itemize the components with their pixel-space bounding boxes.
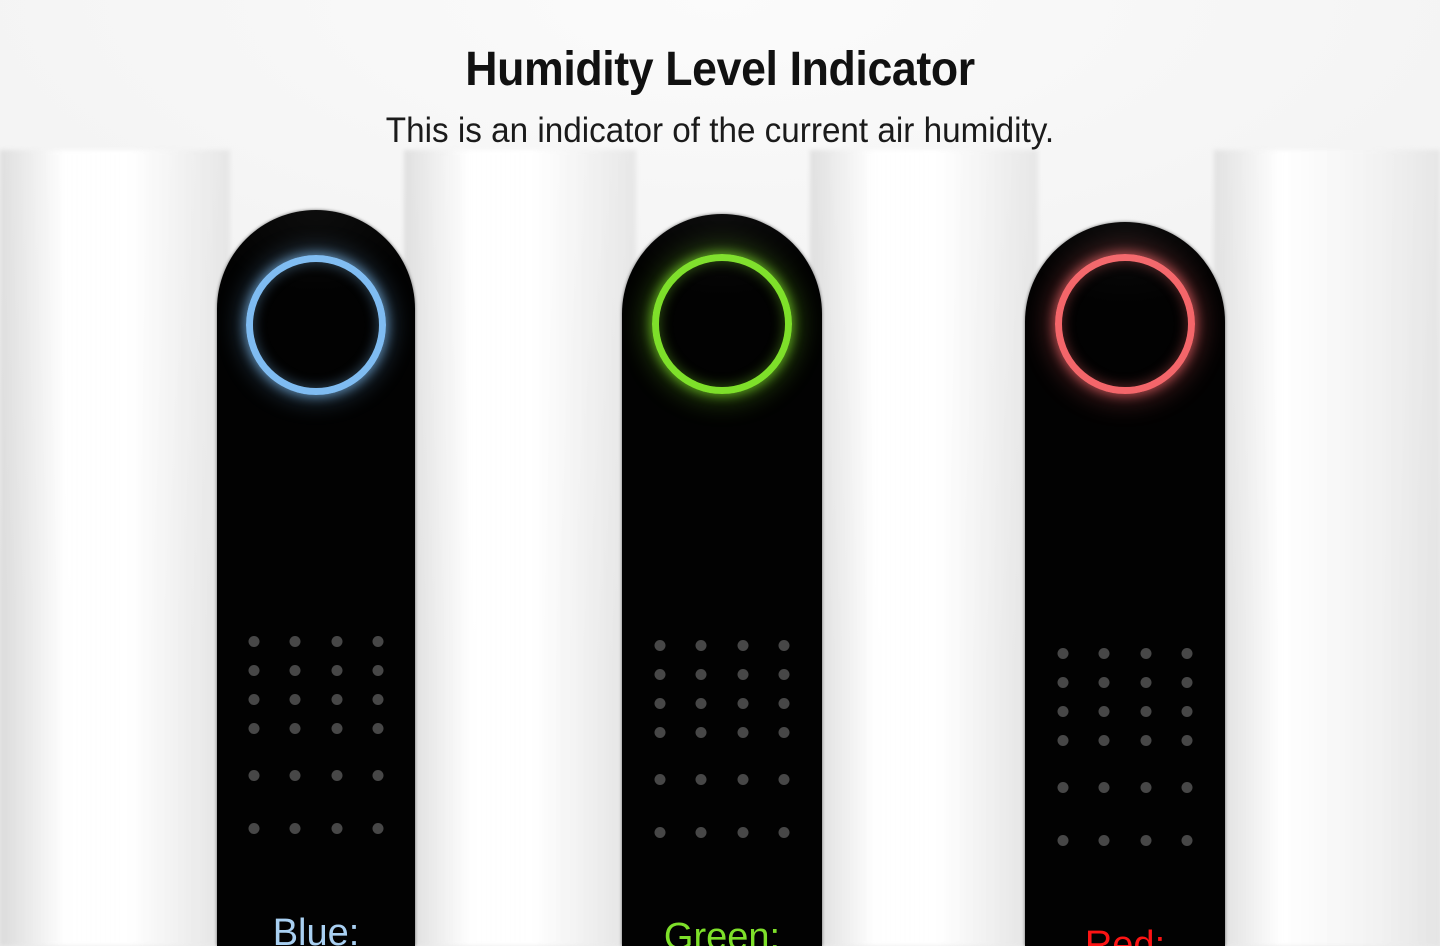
- matrix-dot: [1140, 648, 1151, 659]
- matrix-dot: [1140, 706, 1151, 717]
- matrix-dot: [248, 723, 259, 734]
- matrix-dot: [248, 823, 259, 834]
- matrix-dot: [654, 774, 665, 785]
- matrix-dot: [696, 827, 707, 838]
- caption-red: Red: Humidity more than 70%: [1025, 926, 1225, 946]
- matrix-dot: [1140, 835, 1151, 846]
- matrix-dot: [737, 774, 748, 785]
- matrix-dot: [1140, 735, 1151, 746]
- matrix-dot: [248, 694, 259, 705]
- matrix-dot: [1140, 677, 1151, 688]
- matrix-dot: [290, 636, 301, 647]
- matrix-dot: [373, 694, 384, 705]
- surface-gloss-between-1-2: [404, 150, 636, 946]
- matrix-dot: [737, 827, 748, 838]
- matrix-dot: [696, 669, 707, 680]
- matrix-dot: [1182, 677, 1193, 688]
- matrix-dot: [373, 665, 384, 676]
- matrix-dot: [1140, 782, 1151, 793]
- matrix-dot: [290, 665, 301, 676]
- matrix-dot: [290, 770, 301, 781]
- matrix-dot: [290, 823, 301, 834]
- header: Humidity Level Indicator This is an indi…: [0, 0, 1440, 151]
- indicator-panel-green[interactable]: Green: Humidity between 50% - 70%: [622, 214, 822, 946]
- matrix-dot: [654, 827, 665, 838]
- color-label-green: Green:: [628, 918, 816, 946]
- matrix-dot: [1182, 706, 1193, 717]
- matrix-dot: [1057, 782, 1068, 793]
- matrix-dot: [1057, 706, 1068, 717]
- matrix-dot: [1099, 677, 1110, 688]
- matrix-dot: [373, 770, 384, 781]
- indicator-panel-red[interactable]: Red: Humidity more than 70%: [1025, 222, 1225, 946]
- matrix-dot: [373, 723, 384, 734]
- matrix-dot: [331, 665, 342, 676]
- matrix-dot: [1182, 735, 1193, 746]
- matrix-dot: [290, 723, 301, 734]
- matrix-dot: [1057, 677, 1068, 688]
- matrix-dot: [779, 727, 790, 738]
- speaker-dot-matrix-green: [654, 640, 791, 838]
- matrix-dot: [696, 640, 707, 651]
- matrix-dot: [737, 640, 748, 651]
- matrix-dot: [696, 727, 707, 738]
- red-led-ring-icon: [1055, 254, 1195, 394]
- matrix-dot: [779, 698, 790, 709]
- matrix-dot: [290, 694, 301, 705]
- led-ring-wrapper-blue: [246, 255, 386, 395]
- matrix-dot: [1182, 648, 1193, 659]
- matrix-dot: [696, 774, 707, 785]
- matrix-dot: [779, 669, 790, 680]
- matrix-dot: [779, 774, 790, 785]
- surface-gloss-left: [0, 150, 230, 946]
- matrix-dot: [248, 636, 259, 647]
- matrix-dot: [1099, 835, 1110, 846]
- indicator-panel-blue[interactable]: Blue: Humidity below 50%: [217, 210, 415, 946]
- matrix-dot: [1099, 735, 1110, 746]
- matrix-dot: [373, 636, 384, 647]
- matrix-dot: [1057, 835, 1068, 846]
- matrix-dot: [1182, 782, 1193, 793]
- matrix-dot: [654, 640, 665, 651]
- matrix-dot: [1057, 735, 1068, 746]
- matrix-dot: [331, 823, 342, 834]
- matrix-dot: [1099, 648, 1110, 659]
- matrix-dot: [737, 727, 748, 738]
- matrix-dot: [331, 770, 342, 781]
- speaker-dot-matrix-blue: [248, 636, 385, 834]
- page-title: Humidity Level Indicator: [50, 42, 1389, 97]
- matrix-dot: [1099, 782, 1110, 793]
- green-led-ring-icon: [652, 254, 792, 394]
- matrix-dot: [779, 640, 790, 651]
- page-subtitle: This is an indicator of the current air …: [36, 111, 1404, 151]
- speaker-dot-matrix-red: [1057, 648, 1194, 846]
- matrix-dot: [654, 698, 665, 709]
- matrix-dot: [654, 727, 665, 738]
- matrix-dot: [1057, 648, 1068, 659]
- matrix-dot: [373, 823, 384, 834]
- matrix-dot: [248, 770, 259, 781]
- blue-led-ring-icon: [246, 255, 386, 395]
- caption-green: Green: Humidity between 50% - 70%: [622, 918, 822, 946]
- surface-gloss-right: [1214, 150, 1440, 946]
- matrix-dot: [331, 694, 342, 705]
- color-label-red: Red:: [1031, 926, 1219, 946]
- matrix-dot: [737, 698, 748, 709]
- matrix-dot: [654, 669, 665, 680]
- matrix-dot: [779, 827, 790, 838]
- led-ring-wrapper-red: [1055, 254, 1195, 394]
- matrix-dot: [331, 723, 342, 734]
- matrix-dot: [248, 665, 259, 676]
- matrix-dot: [331, 636, 342, 647]
- matrix-dot: [737, 669, 748, 680]
- color-label-blue: Blue:: [223, 914, 409, 946]
- led-ring-wrapper-green: [652, 254, 792, 394]
- surface-gloss-between-2-3: [810, 150, 1038, 946]
- matrix-dot: [1099, 706, 1110, 717]
- caption-blue: Blue: Humidity below 50%: [217, 914, 415, 946]
- matrix-dot: [696, 698, 707, 709]
- matrix-dot: [1182, 835, 1193, 846]
